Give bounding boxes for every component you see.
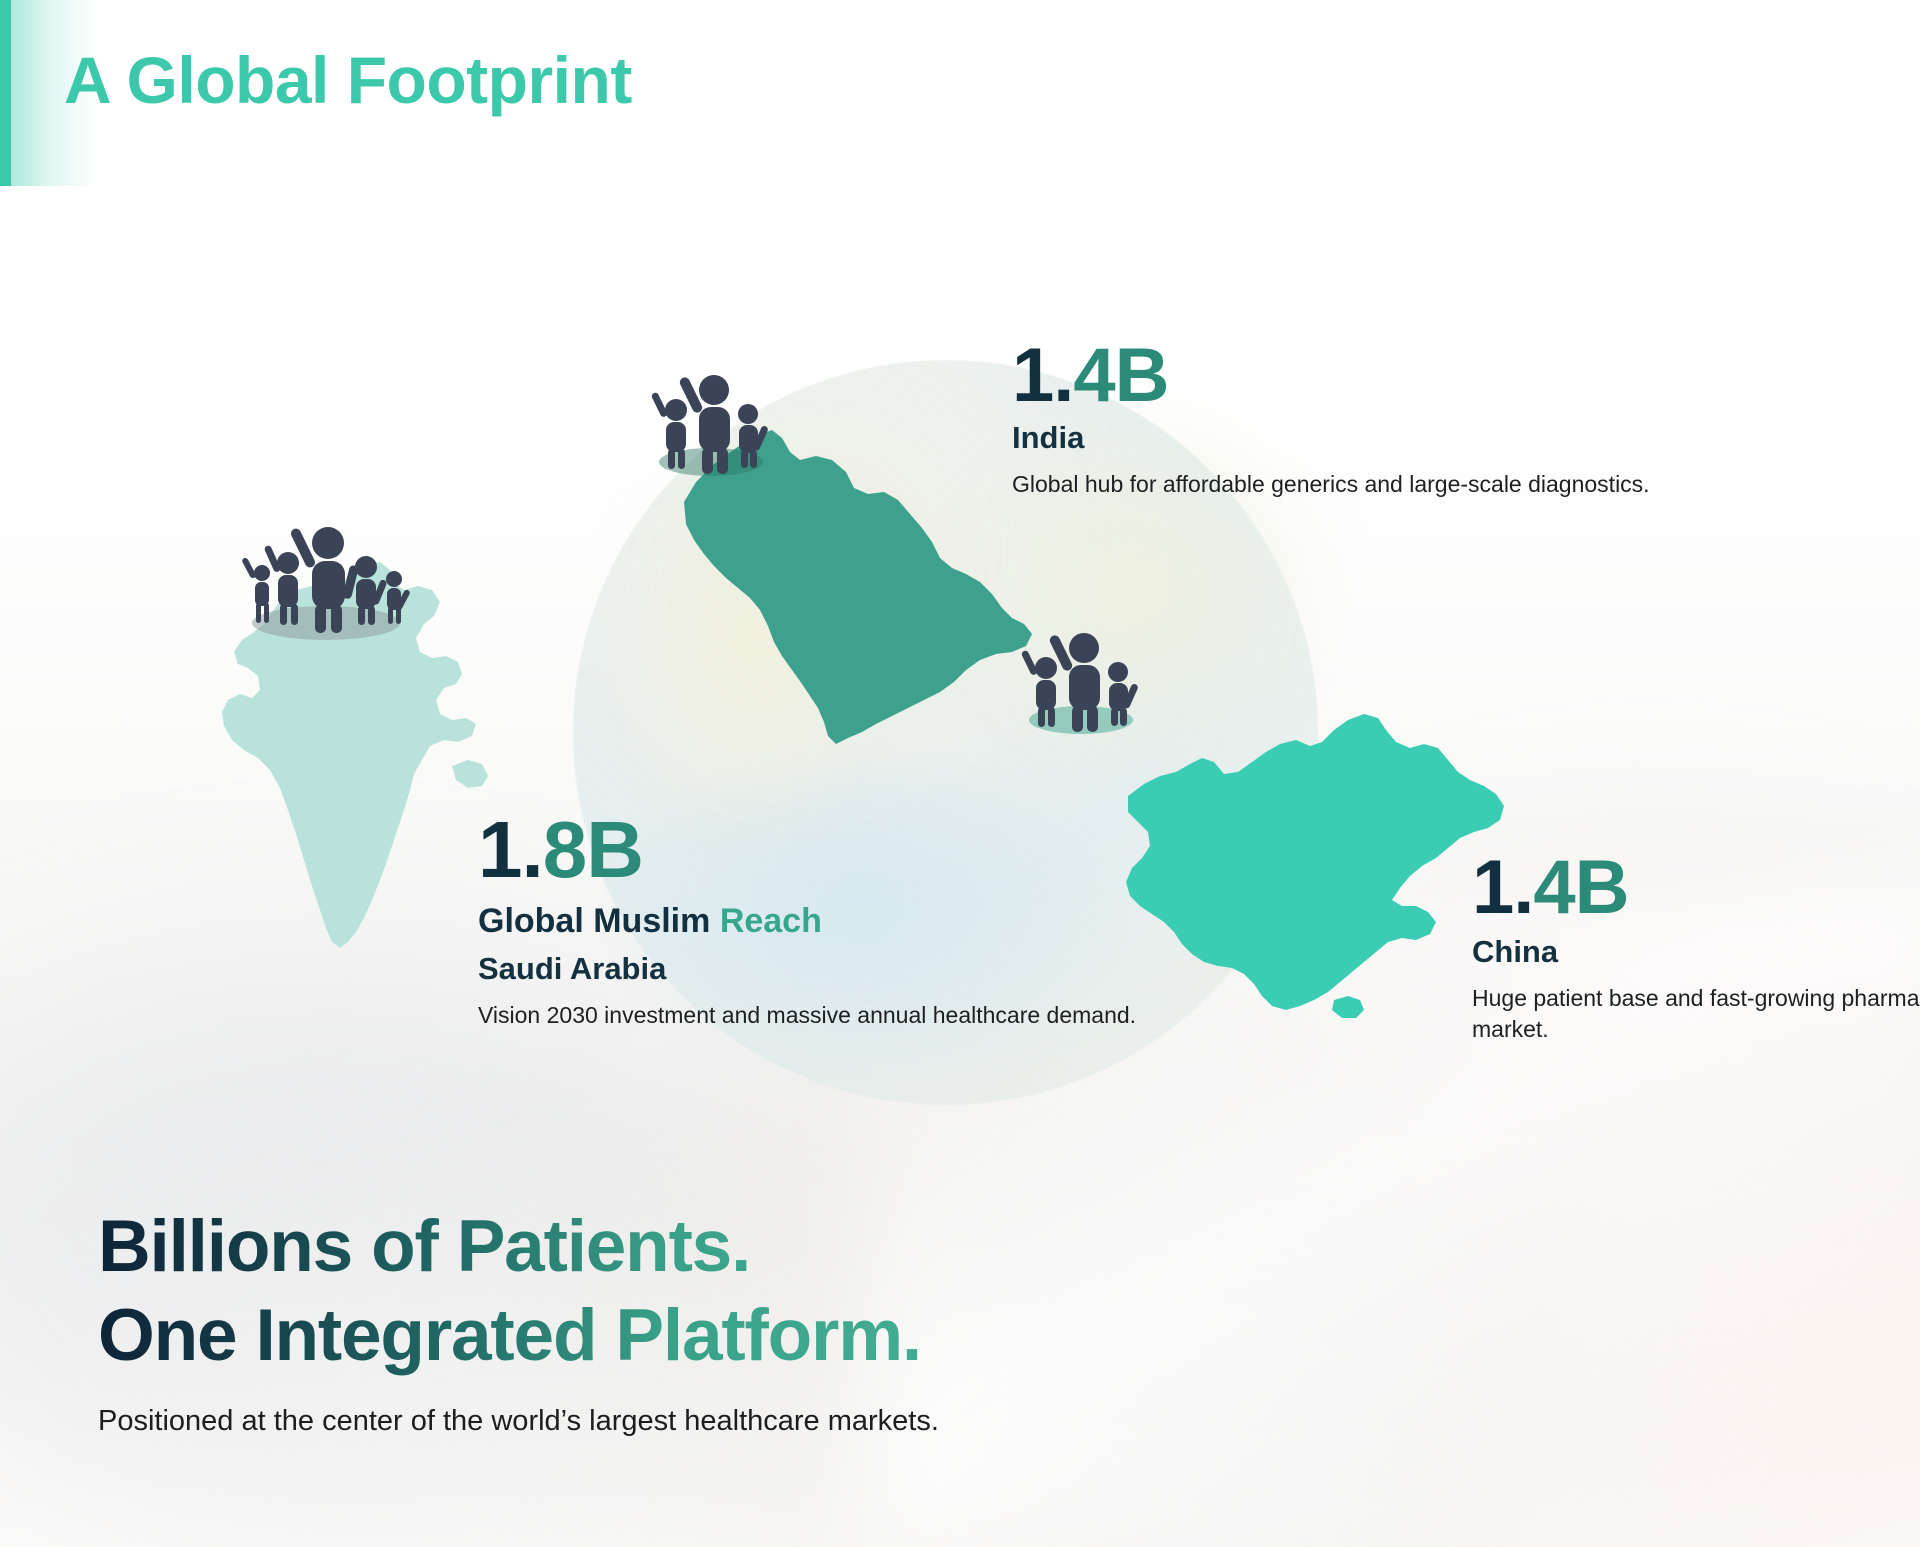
country-label-india: India [1012,420,1650,456]
country-label-saudi: Saudi Arabia [478,951,1136,987]
country-label-china: China [1472,934,1920,970]
stat-value-saudi: 1.8B [478,812,1136,888]
footer-headline-block: Billions of Patients. One Integrated Pla… [98,1205,939,1438]
family-group-icon [1006,620,1156,740]
tagline-global-muslim-reach: Global Muslim Reach [478,902,1136,941]
stat-suffix: 4B [1073,333,1168,418]
stat-prefix: 1. [1472,845,1533,930]
page-header: A Global Footprint [0,0,1920,186]
footer-subtitle: Positioned at the center of the world’s … [98,1405,939,1438]
family-group-icon [236,505,416,645]
family-group-icon [636,362,786,482]
description-india: Global hub for affordable generics and l… [1012,469,1650,500]
description-saudi: Vision 2030 investment and massive annua… [478,1000,1136,1031]
headline-line-1: Billions of Patients. [98,1205,939,1288]
stat-prefix: 1. [478,805,543,894]
description-china: Huge patient base and fast-growing pharm… [1472,983,1920,1044]
headline-line-2: One Integrated Platform. [98,1294,939,1377]
page-title: A Global Footprint [64,42,632,118]
stat-suffix: 8B [543,805,643,894]
market-callout-china: 1.4B China Huge patient base and fast-gr… [1472,852,1920,1044]
market-callout-saudi: 1.8B Global Muslim Reach Saudi Arabia Vi… [478,812,1136,1031]
stat-value-china: 1.4B [1472,852,1920,924]
header-accent-bar [0,0,11,186]
stat-prefix: 1. [1012,333,1073,418]
market-callout-india: 1.4B India Global hub for affordable gen… [1012,340,1650,500]
stat-value-india: 1.4B [1012,340,1650,412]
tagline-teal-part: Reach [720,902,822,940]
tagline-dark-part: Global Muslim [478,902,720,940]
stat-suffix: 4B [1533,845,1628,930]
